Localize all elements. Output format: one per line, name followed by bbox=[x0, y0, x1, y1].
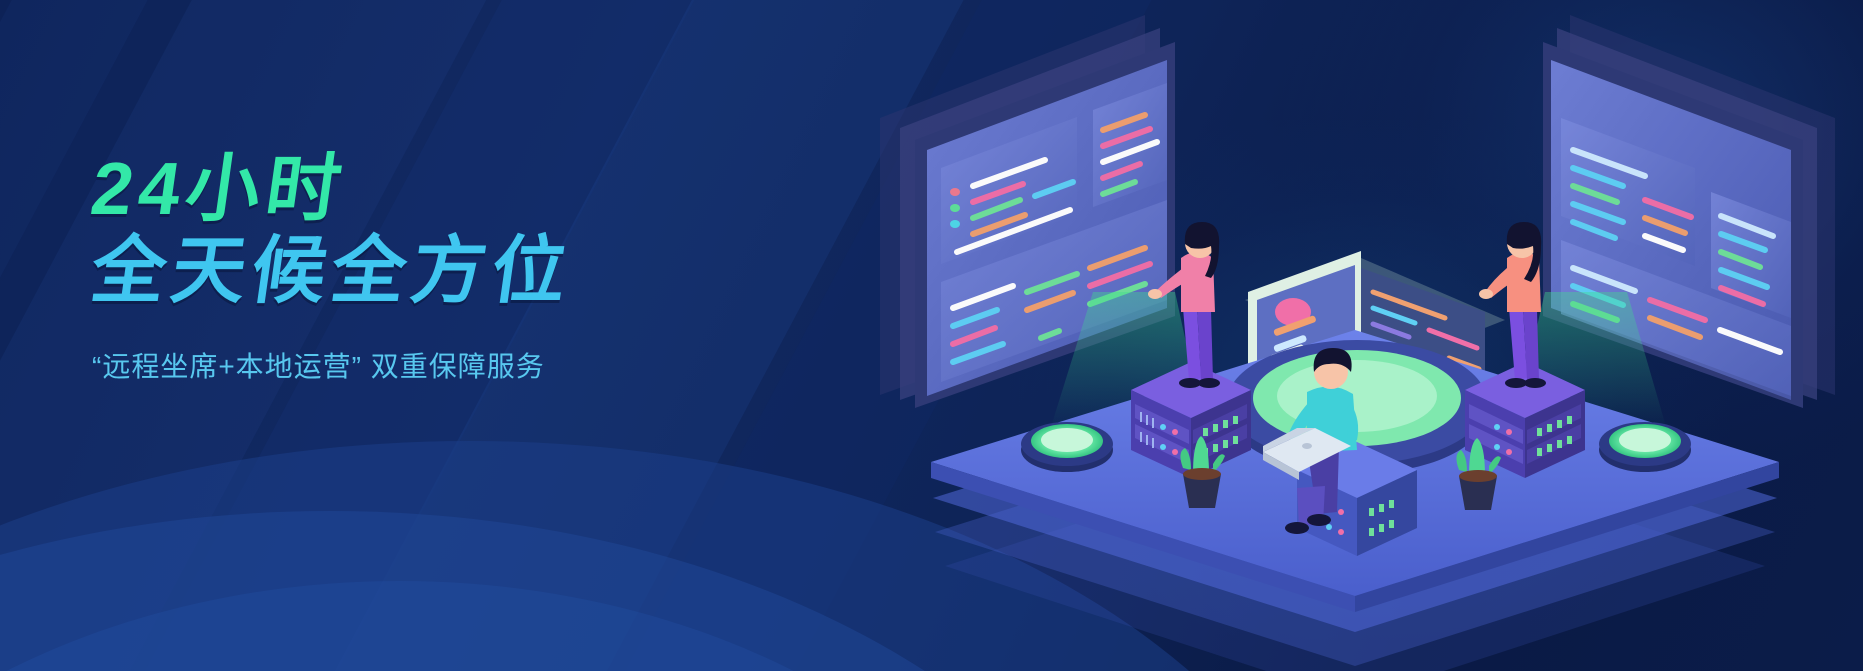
headline-line-1: 24小时 bbox=[87, 150, 858, 228]
headline-line-2: 全天候全方位 bbox=[87, 232, 858, 310]
promo-banner: 24小时 全天候全方位 “远程坐席+本地运营” 双重保障服务 bbox=[0, 0, 1863, 671]
right-person-standing bbox=[1479, 222, 1546, 388]
subtitle: “远程坐席+本地运营” 双重保障服务 bbox=[92, 345, 852, 385]
illustration bbox=[845, 0, 1863, 671]
headline: 24小时 全天候全方位 bbox=[92, 150, 852, 309]
glow-disc-left bbox=[1021, 422, 1113, 472]
glow-disc-right bbox=[1599, 422, 1691, 472]
diagonal-stripe bbox=[0, 0, 65, 671]
headline-block: 24小时 全天候全方位 “远程坐席+本地运营” 双重保障服务 bbox=[92, 150, 852, 385]
